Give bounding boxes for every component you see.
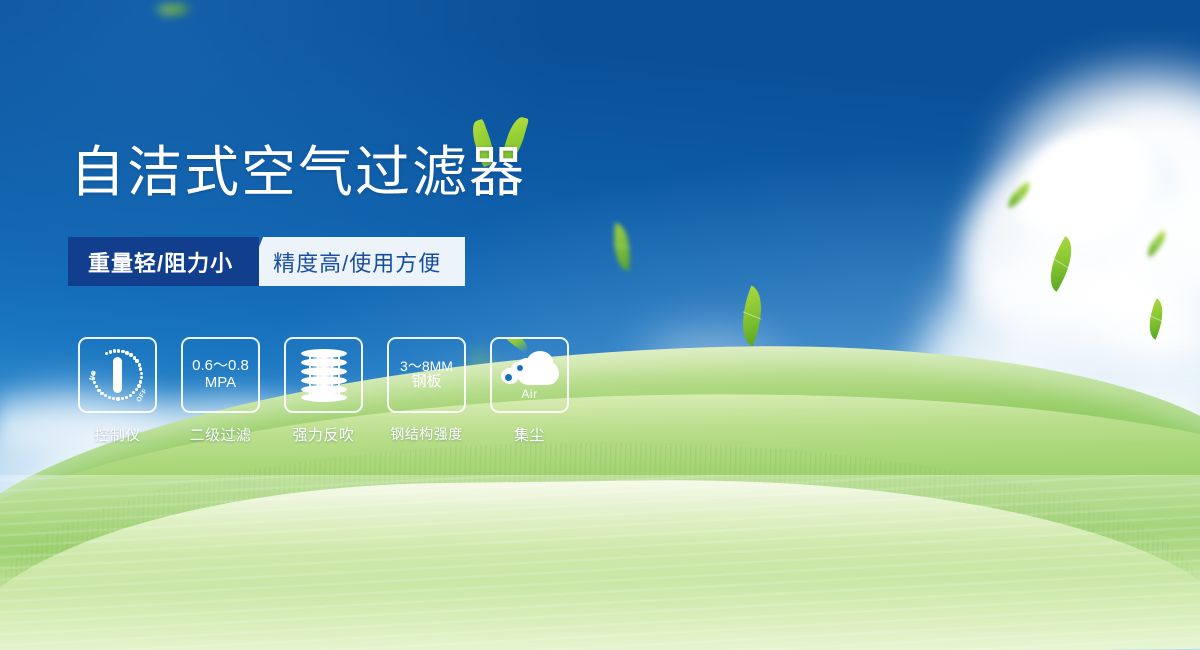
gauge-graphic: NO OFF xyxy=(89,348,147,402)
subtitle-left-segment: 重量轻/阻力小 xyxy=(68,237,259,286)
feature-item-steel-strength[interactable]: 3～8MM 钢板 钢结构强度 xyxy=(387,337,466,445)
steel-plate-text-icon: 3～8MM 钢板 xyxy=(387,337,466,413)
gauge-dial-icon: NO OFF xyxy=(78,337,157,413)
feature-caption: 二级过滤 xyxy=(189,424,251,445)
cloud-graphic xyxy=(501,349,559,385)
coil-graphic xyxy=(301,349,347,401)
feature-caption: 集尘 xyxy=(514,424,545,445)
cloud-air-icon: Air xyxy=(490,337,569,413)
air-label: Air xyxy=(521,387,537,401)
banner-stage: 自洁式空气过滤器 重量轻/阻力小 精度高/使用方便 NO OFF 控制仪 0.6… xyxy=(0,0,1200,650)
feature-item-controller[interactable]: NO OFF 控制仪 xyxy=(78,337,157,445)
feature-list: NO OFF 控制仪 0.6～0.8 MPA 二级过滤 xyxy=(78,337,569,445)
feature-item-dust-collection[interactable]: Air 集尘 xyxy=(490,337,569,445)
pressure-text-icon: 0.6～0.8 MPA xyxy=(181,337,260,413)
steel-material: 钢板 xyxy=(411,374,441,391)
feature-caption: 强力反吹 xyxy=(292,424,354,445)
leaf-streak-icon xyxy=(497,337,531,353)
pressure-value: 0.6～0.8 xyxy=(192,358,249,375)
pressure-unit: MPA xyxy=(205,375,236,392)
feature-caption: 控制仪 xyxy=(94,424,141,445)
page-title: 自洁式空气过滤器 xyxy=(70,145,526,200)
subtitle-bar: 重量轻/阻力小 精度高/使用方便 xyxy=(68,237,465,286)
feature-caption: 钢结构强度 xyxy=(390,424,463,444)
feature-item-back-blow[interactable]: 强力反吹 xyxy=(284,337,363,445)
subtitle-right-segment: 精度高/使用方便 xyxy=(243,237,465,286)
coil-filter-icon xyxy=(284,337,363,413)
feature-item-two-stage-filter[interactable]: 0.6～0.8 MPA 二级过滤 xyxy=(181,337,260,445)
